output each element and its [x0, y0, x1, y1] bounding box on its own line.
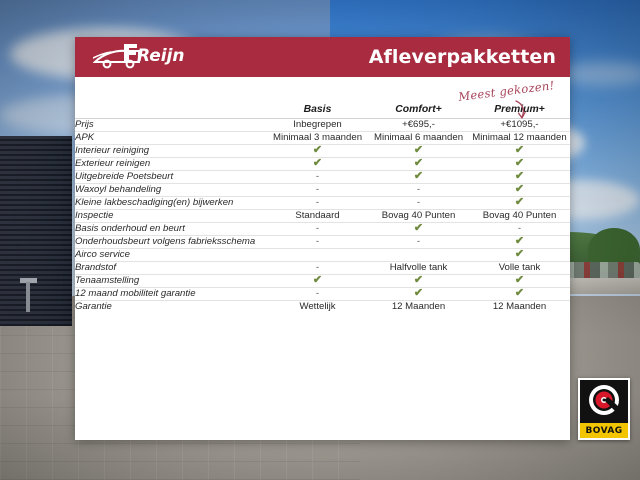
- cell-premium: Minimaal 12 maanden: [469, 131, 570, 144]
- bovag-logo-mark: [580, 380, 628, 424]
- cell-basis: -: [267, 170, 368, 183]
- column-header-comfort: Comfort+: [368, 100, 469, 119]
- car-swoosh-icon: Reijnen: [93, 42, 185, 72]
- check-icon: ✔: [515, 275, 524, 286]
- check-icon: ✔: [515, 145, 524, 156]
- column-header-basis: Basis: [267, 100, 368, 119]
- not-included-dash: -: [316, 236, 319, 247]
- cell-premium: ✔: [469, 183, 570, 196]
- check-icon: ✔: [414, 288, 423, 299]
- table-row: Onderhoudsbeurt volgens fabrieksschema--…: [75, 235, 570, 248]
- check-icon: ✔: [313, 145, 322, 156]
- not-included-dash: -: [316, 288, 319, 299]
- cell-basis: -: [267, 183, 368, 196]
- table-body: PrijsInbegrepen+€695,-+€1095,-APKMinimaa…: [75, 119, 570, 313]
- not-included-dash: -: [417, 184, 420, 195]
- check-icon: ✔: [414, 223, 423, 234]
- table-header-row: Basis Comfort+ Premium+: [75, 100, 570, 119]
- table-row: PrijsInbegrepen+€695,-+€1095,-: [75, 119, 570, 132]
- cell-comfort: -: [368, 183, 469, 196]
- row-label: Prijs: [75, 119, 267, 132]
- cell-basis: ✔: [267, 274, 368, 287]
- cell-premium: ✔: [469, 196, 570, 209]
- table-row: InspectieStandaardBovag 40 PuntenBovag 4…: [75, 209, 570, 222]
- not-included-dash: -: [316, 184, 319, 195]
- row-label: Uitgebreide Poetsbeurt: [75, 170, 267, 183]
- cell-premium: Volle tank: [469, 261, 570, 274]
- table-row: Exterieur reinigen✔✔✔: [75, 157, 570, 170]
- cell-basis: Standaard: [267, 209, 368, 222]
- cell-comfort: ✔: [368, 222, 469, 235]
- column-header-label: [75, 100, 267, 119]
- card-header-bar: Reijnen Afleverpakketten: [75, 37, 570, 77]
- cell-comfort: ✔: [368, 274, 469, 287]
- packages-comparison-table: Basis Comfort+ Premium+ PrijsInbegrepen+…: [75, 100, 570, 313]
- check-icon: ✔: [414, 171, 423, 182]
- row-label: Airco service: [75, 248, 267, 261]
- cell-premium: Bovag 40 Punten: [469, 209, 570, 222]
- delivery-packages-card: Reijnen Afleverpakketten Meest gekozen! …: [75, 37, 570, 440]
- table-row: Interieur reiniging✔✔✔: [75, 144, 570, 157]
- cell-basis: Wettelijk: [267, 300, 368, 312]
- cell-premium: ✔: [469, 274, 570, 287]
- cell-comfort: [368, 248, 469, 261]
- row-label: Inspectie: [75, 209, 267, 222]
- cell-basis: -: [267, 222, 368, 235]
- row-label: Waxoyl behandeling: [75, 183, 267, 196]
- cell-premium: ✔: [469, 170, 570, 183]
- row-label: Tenaamstelling: [75, 274, 267, 287]
- check-icon: ✔: [515, 249, 524, 260]
- check-icon: ✔: [414, 158, 423, 169]
- check-icon: ✔: [313, 275, 322, 286]
- cell-comfort: ✔: [368, 287, 469, 300]
- bovag-badge: BOVAG: [578, 378, 630, 440]
- table-row: Brandstof-Halfvolle tankVolle tank: [75, 261, 570, 274]
- table-header: Basis Comfort+ Premium+: [75, 100, 570, 119]
- cell-comfort: -: [368, 235, 469, 248]
- bovag-label: BOVAG: [580, 423, 628, 438]
- cell-basis: Minimaal 3 maanden: [267, 131, 368, 144]
- row-label: Basis onderhoud en beurt: [75, 222, 267, 235]
- table-row: 12 maand mobiliteit garantie-✔✔: [75, 287, 570, 300]
- cell-premium: ✔: [469, 144, 570, 157]
- not-included-dash: -: [316, 171, 319, 182]
- cell-basis: ✔: [267, 157, 368, 170]
- check-icon: ✔: [515, 236, 524, 247]
- cell-basis: Inbegrepen: [267, 119, 368, 132]
- check-icon: ✔: [414, 145, 423, 156]
- not-included-dash: -: [518, 223, 521, 234]
- row-label: Interieur reiniging: [75, 144, 267, 157]
- cell-comfort: +€695,-: [368, 119, 469, 132]
- row-label: Onderhoudsbeurt volgens fabrieksschema: [75, 235, 267, 248]
- table-row: Kleine lakbeschadiging(en) bijwerken--✔: [75, 196, 570, 209]
- cell-premium: 12 Maanden: [469, 300, 570, 312]
- cell-basis: [267, 248, 368, 261]
- row-label: 12 maand mobiliteit garantie: [75, 287, 267, 300]
- cell-comfort: Halfvolle tank: [368, 261, 469, 274]
- row-label: APK: [75, 131, 267, 144]
- cell-basis: -: [267, 287, 368, 300]
- bovag-emblem-icon: BOVAG: [580, 380, 628, 438]
- check-icon: ✔: [515, 158, 524, 169]
- cell-comfort: ✔: [368, 157, 469, 170]
- row-label: Brandstof: [75, 261, 267, 274]
- reijnen-logo: Reijnen: [93, 41, 185, 73]
- cell-comfort: Bovag 40 Punten: [368, 209, 469, 222]
- page-title: Afleverpakketten: [369, 46, 556, 68]
- cell-premium: ✔: [469, 287, 570, 300]
- table-row: Waxoyl behandeling--✔: [75, 183, 570, 196]
- not-included-dash: -: [417, 236, 420, 247]
- check-icon: ✔: [515, 184, 524, 195]
- cell-basis: -: [267, 196, 368, 209]
- cell-comfort: ✔: [368, 144, 469, 157]
- cell-basis: -: [267, 235, 368, 248]
- not-included-dash: -: [316, 197, 319, 208]
- cell-comfort: ✔: [368, 170, 469, 183]
- table-row: APKMinimaal 3 maandenMinimaal 6 maandenM…: [75, 131, 570, 144]
- table-row: Tenaamstelling✔✔✔: [75, 274, 570, 287]
- not-included-dash: -: [316, 223, 319, 234]
- cell-basis: ✔: [267, 144, 368, 157]
- cell-comfort: 12 Maanden: [368, 300, 469, 312]
- cell-premium: ✔: [469, 235, 570, 248]
- table-row: Uitgebreide Poetsbeurt-✔✔: [75, 170, 570, 183]
- cell-basis: -: [267, 261, 368, 274]
- cell-premium: ✔: [469, 248, 570, 261]
- cell-comfort: -: [368, 196, 469, 209]
- cell-comfort: Minimaal 6 maanden: [368, 131, 469, 144]
- row-label: Garantie: [75, 300, 267, 312]
- row-label: Exterieur reinigen: [75, 157, 267, 170]
- not-included-dash: -: [316, 262, 319, 273]
- cell-premium: +€1095,-: [469, 119, 570, 132]
- not-included-dash: -: [417, 197, 420, 208]
- cell-premium: -: [469, 222, 570, 235]
- check-icon: ✔: [515, 171, 524, 182]
- check-icon: ✔: [313, 158, 322, 169]
- table-row: Airco service✔: [75, 248, 570, 261]
- check-icon: ✔: [515, 288, 524, 299]
- cell-premium: ✔: [469, 157, 570, 170]
- check-icon: ✔: [414, 275, 423, 286]
- table-row: GarantieWettelijk12 Maanden12 Maanden: [75, 300, 570, 312]
- table-row: Basis onderhoud en beurt-✔-: [75, 222, 570, 235]
- row-label: Kleine lakbeschadiging(en) bijwerken: [75, 196, 267, 209]
- check-icon: ✔: [515, 197, 524, 208]
- column-header-premium: Premium+: [469, 100, 570, 119]
- brand-wordmark: Reijnen: [137, 46, 185, 66]
